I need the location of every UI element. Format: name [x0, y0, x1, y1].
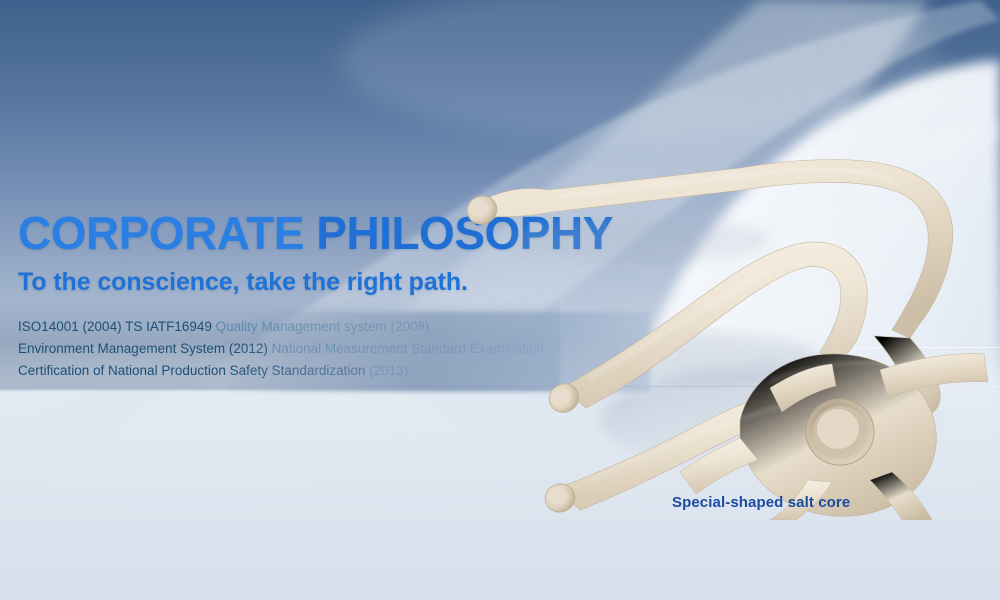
certification-lead: Environment Management System (2012)	[18, 341, 272, 356]
product-image-salt-core	[440, 120, 1000, 520]
certification-tail: Quality Management system (2008)	[216, 319, 430, 334]
certification-lead: ISO14001 (2004) TS IATF16949	[18, 319, 216, 334]
page-title-word-1: CORPORATE	[18, 207, 304, 259]
certification-lead: Certification of National Production Saf…	[18, 363, 369, 378]
product-caption: Special-shaped salt core	[672, 494, 850, 511]
certification-tail: (2013)	[369, 363, 408, 378]
corporate-philosophy-banner: CORPORATE PHILOSOPHY To the conscience, …	[0, 0, 1000, 600]
